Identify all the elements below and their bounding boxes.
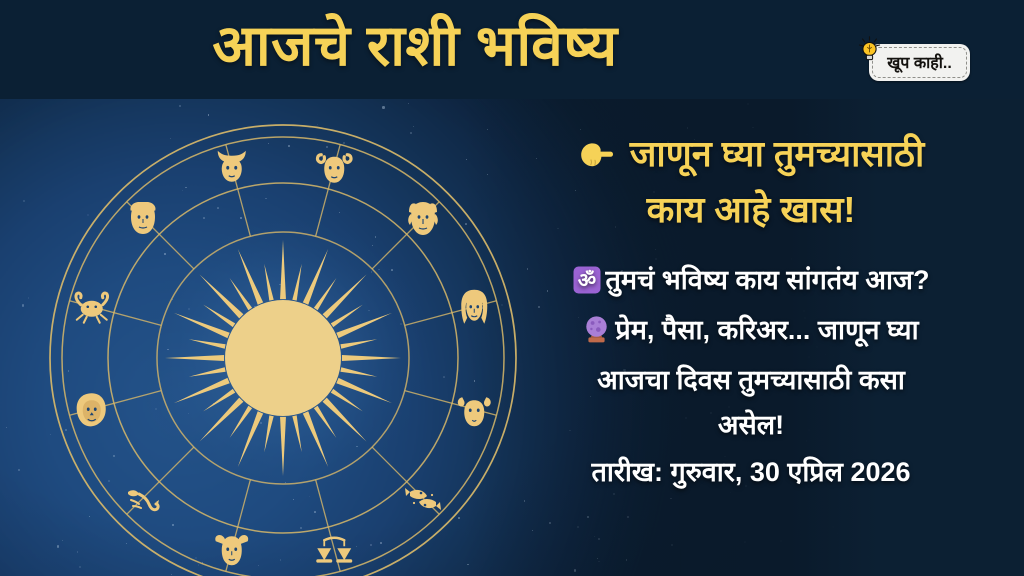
zodiac-cancer-icon <box>76 293 108 323</box>
om-symbol-icon: ॐ <box>573 263 601 308</box>
brand-badge[interactable]: खूप काही.. <box>852 34 972 84</box>
zodiac-sagittarius-icon <box>215 535 248 565</box>
pointing-right-hand-icon <box>578 132 614 184</box>
crystal-ball-icon <box>583 313 610 358</box>
sun-disc <box>225 300 341 416</box>
zodiac-aries-icon <box>318 155 351 183</box>
body-line-1-row: ॐ तुमचं भविष्य काय सांगतंय आज? <box>488 258 1014 308</box>
zodiac-aquarius-icon <box>130 202 155 234</box>
body-line-1: तुमचं भविष्य काय सांगतंय आज? <box>606 265 930 295</box>
date-line: तारीख: गुरुवार, 30 एप्रिल 2026 <box>488 450 1014 495</box>
body-line-3: आजचा दिवस तुमच्यासाठी कसा <box>488 358 1014 403</box>
headline-line-1: जाणून घ्या तुमच्यासाठी <box>630 133 925 174</box>
horoscope-poster: आजचे राशी भविष्य खूप काही.. <box>0 0 1024 576</box>
svg-text:ॐ: ॐ <box>577 269 595 292</box>
page-title: आजचे राशी भविष्य <box>0 8 830 84</box>
zodiac-scorpio-icon <box>128 490 159 510</box>
text-column: जाणून घ्या तुमच्यासाठी काय आहे खास! ॐ तु… <box>478 128 1024 495</box>
body-line-2: प्रेम, पैसा, करिअर... जाणून घ्या <box>615 315 918 345</box>
zodiac-wheel <box>43 118 523 576</box>
body-line-4: असेल! <box>488 403 1014 448</box>
headline-line-2: काय आहे खास! <box>647 189 856 230</box>
zodiac-gemini-icon <box>408 202 438 235</box>
zodiac-wheel-svg <box>43 118 523 576</box>
body-block: ॐ तुमचं भविष्य काय सांगतंय आज? प्रेम <box>478 258 1024 495</box>
zodiac-taurus-icon <box>218 151 246 182</box>
zodiac-leo-icon <box>77 393 106 426</box>
body-line-2-row: प्रेम, पैसा, करिअर... जाणून घ्या <box>488 308 1014 358</box>
headline: जाणून घ्या तुमच्यासाठी काय आहे खास! <box>478 128 1024 236</box>
brand-name: खूप काही.. <box>869 44 970 81</box>
zodiac-pisces-icon <box>405 488 441 510</box>
lightbulb-icon <box>858 36 881 63</box>
